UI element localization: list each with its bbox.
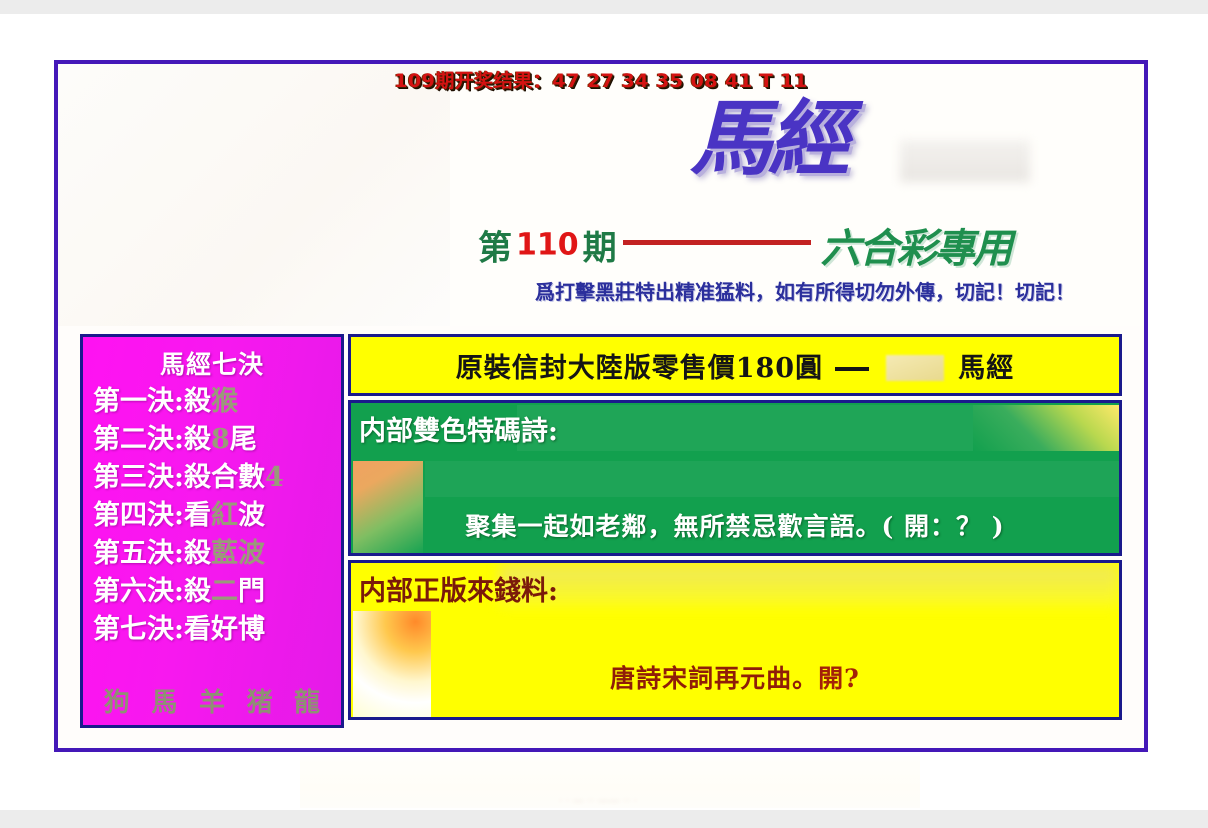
logo-smudge: [900, 140, 1030, 182]
seven-decisions-panel: 馬經七決 第一決:殺猴 第二決:殺8尾 第三決:殺合數4 第四決:看紅波 第五決…: [80, 334, 344, 728]
list-item: 第一決:殺猴: [93, 383, 341, 421]
price-banner-text: 原裝信封大陸版零售價180圓 馬經: [456, 346, 1015, 385]
issue-prefix: 第: [478, 229, 512, 269]
zodiac-animal-row: 狗 馬 羊 猪 龍: [83, 682, 341, 719]
poster-body: 馬經七決 第一決:殺猴 第二決:殺8尾 第三決:殺合數4 第四決:看紅波 第五決…: [80, 334, 1122, 728]
price-banner-panel: 原裝信封大陸版零售價180圓 馬經: [348, 334, 1122, 396]
price-banner-redacted-block: [886, 355, 944, 381]
header-blank-area: [58, 64, 450, 326]
zodiac-animal: 羊: [199, 682, 225, 719]
money-material-panel: 内部正版來錢料: 唐詩宋詞再元曲。開?: [348, 560, 1122, 720]
right-panel-stack: 原裝信封大陸版零售價180圓 馬經 内部雙色特碼詩: 聚集一起如老鄰，無所禁忌歡…: [348, 334, 1122, 728]
green-highlight-bar-mid: [425, 461, 1121, 497]
list-item: 第四決:看紅波: [93, 497, 341, 535]
brand-logo-majing: 馬經: [690, 98, 846, 180]
seven-decisions-list: 第一決:殺猴 第二決:殺8尾 第三決:殺合數4 第四決:看紅波 第五決:殺藍波 …: [83, 383, 341, 649]
dual-color-poem-text: 聚集一起如老鄰，無所禁忌歡言語。( 開：？ ): [351, 507, 1119, 543]
issue-tagline: 六合彩專用: [821, 225, 1011, 272]
screenshot-root: 109期开奖结果：47 27 34 35 08 41 T 11 馬經 第 110…: [0, 0, 1208, 828]
yellow-smudge-top: [499, 565, 1119, 607]
zodiac-animal: 狗: [104, 682, 130, 719]
price-banner-part1: 原裝信封大陸版零售價180圓: [456, 353, 823, 384]
zodiac-animal: 龍: [294, 682, 320, 719]
price-banner-part2: 馬經: [958, 353, 1014, 384]
list-item: 第三決:殺合數4: [93, 459, 341, 497]
list-item: 第五決:殺藍波: [93, 535, 341, 573]
money-material-poem: 唐詩宋詞再元曲。: [610, 664, 818, 693]
page-chrome-bottom: [0, 810, 1208, 828]
draw-result-text: 109期开奖结果：47 27 34 35 08 41 T 11: [58, 66, 1144, 93]
issue-divider-rule: [623, 240, 811, 245]
issue-suffix: 期: [583, 229, 617, 269]
page-chrome-top: [0, 0, 1208, 14]
list-item: 第六決:殺二門: [93, 573, 341, 611]
money-material-label: 内部正版來錢料:: [359, 569, 558, 608]
green-gradient-top-right: [973, 405, 1119, 451]
money-material-text: 唐詩宋詞再元曲。開?: [351, 659, 1119, 695]
header-warning-text: 爲打擊黑莊特出精准猛料，如有所得切勿外傳，切記！切記！: [470, 276, 1140, 305]
price-banner-dash: [835, 367, 869, 371]
issue-number: 110: [516, 228, 579, 263]
dual-color-poem-label: 内部雙色特碼詩:: [359, 409, 558, 448]
footer-ghost-text: · · — ·· —— ·· ·: [388, 794, 808, 806]
seven-decisions-title: 馬經七決: [83, 345, 341, 381]
zodiac-animal: 馬: [151, 682, 177, 719]
money-material-open-mark: 開?: [818, 664, 860, 693]
list-item: 第七決:看好博: [93, 611, 341, 649]
issue-row: 第 110 期 六合彩專用: [478, 216, 1138, 266]
zodiac-animal: 猪: [247, 682, 273, 719]
list-item: 第二決:殺8尾: [93, 421, 341, 459]
dual-color-poem-panel: 内部雙色特碼詩: 聚集一起如老鄰，無所禁忌歡言語。( 開：？ ): [348, 400, 1122, 556]
